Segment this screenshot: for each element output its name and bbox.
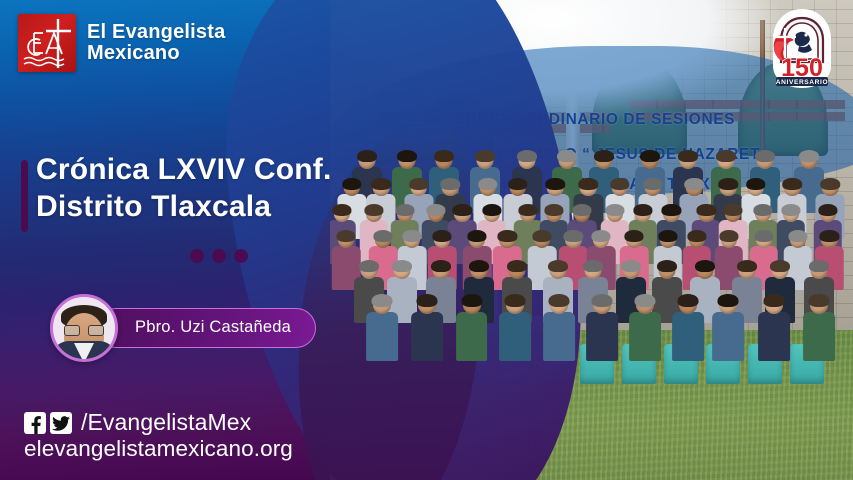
photo-person xyxy=(712,296,744,363)
photo-person xyxy=(672,296,704,363)
photo-person xyxy=(759,296,791,363)
photo-person xyxy=(586,296,618,363)
150-aniversario-badge-icon: 150 ANIVERSARIO xyxy=(763,6,841,92)
dot xyxy=(190,249,204,263)
glasses-icon xyxy=(64,325,104,336)
photo-person xyxy=(629,296,661,363)
title-dots-decoration xyxy=(190,249,248,263)
footer: /EvangelistaMex elevangelistamexicano.or… xyxy=(24,411,293,462)
photo-person xyxy=(456,296,488,363)
photo-person xyxy=(366,296,398,363)
el-evangelista-cross-logo-icon xyxy=(18,14,76,72)
speaker-name-pill: Pbro. Uzi Castañeda xyxy=(96,308,316,348)
dot xyxy=(212,249,226,263)
photo-person xyxy=(543,296,575,363)
photo-person xyxy=(411,296,443,363)
brand-name-line1: El Evangelista xyxy=(87,22,225,43)
website-url[interactable]: elevangelistamexicano.org xyxy=(24,436,293,462)
photo-person xyxy=(499,296,531,363)
photo-person xyxy=(803,296,835,363)
facebook-icon[interactable] xyxy=(24,412,46,434)
twitter-icon[interactable] xyxy=(50,412,72,434)
social-handle[interactable]: /EvangelistaMex xyxy=(81,411,251,434)
brand-name: El Evangelista Mexicano xyxy=(87,22,225,63)
slide-canvas: X PERIODO ORDINARIO DE SESIONES TUBRE 20… xyxy=(0,0,853,480)
dot xyxy=(234,249,248,263)
brand-logo[interactable]: El Evangelista Mexicano xyxy=(18,14,225,72)
social-links: /EvangelistaMex xyxy=(24,411,293,434)
brand-name-line2: Mexicano xyxy=(87,43,225,64)
speaker-block: Pbro. Uzi Castañeda xyxy=(50,294,316,362)
svg-text:ANIVERSARIO: ANIVERSARIO xyxy=(776,79,828,86)
avatar xyxy=(50,294,118,362)
title-accent-bar xyxy=(21,160,28,232)
